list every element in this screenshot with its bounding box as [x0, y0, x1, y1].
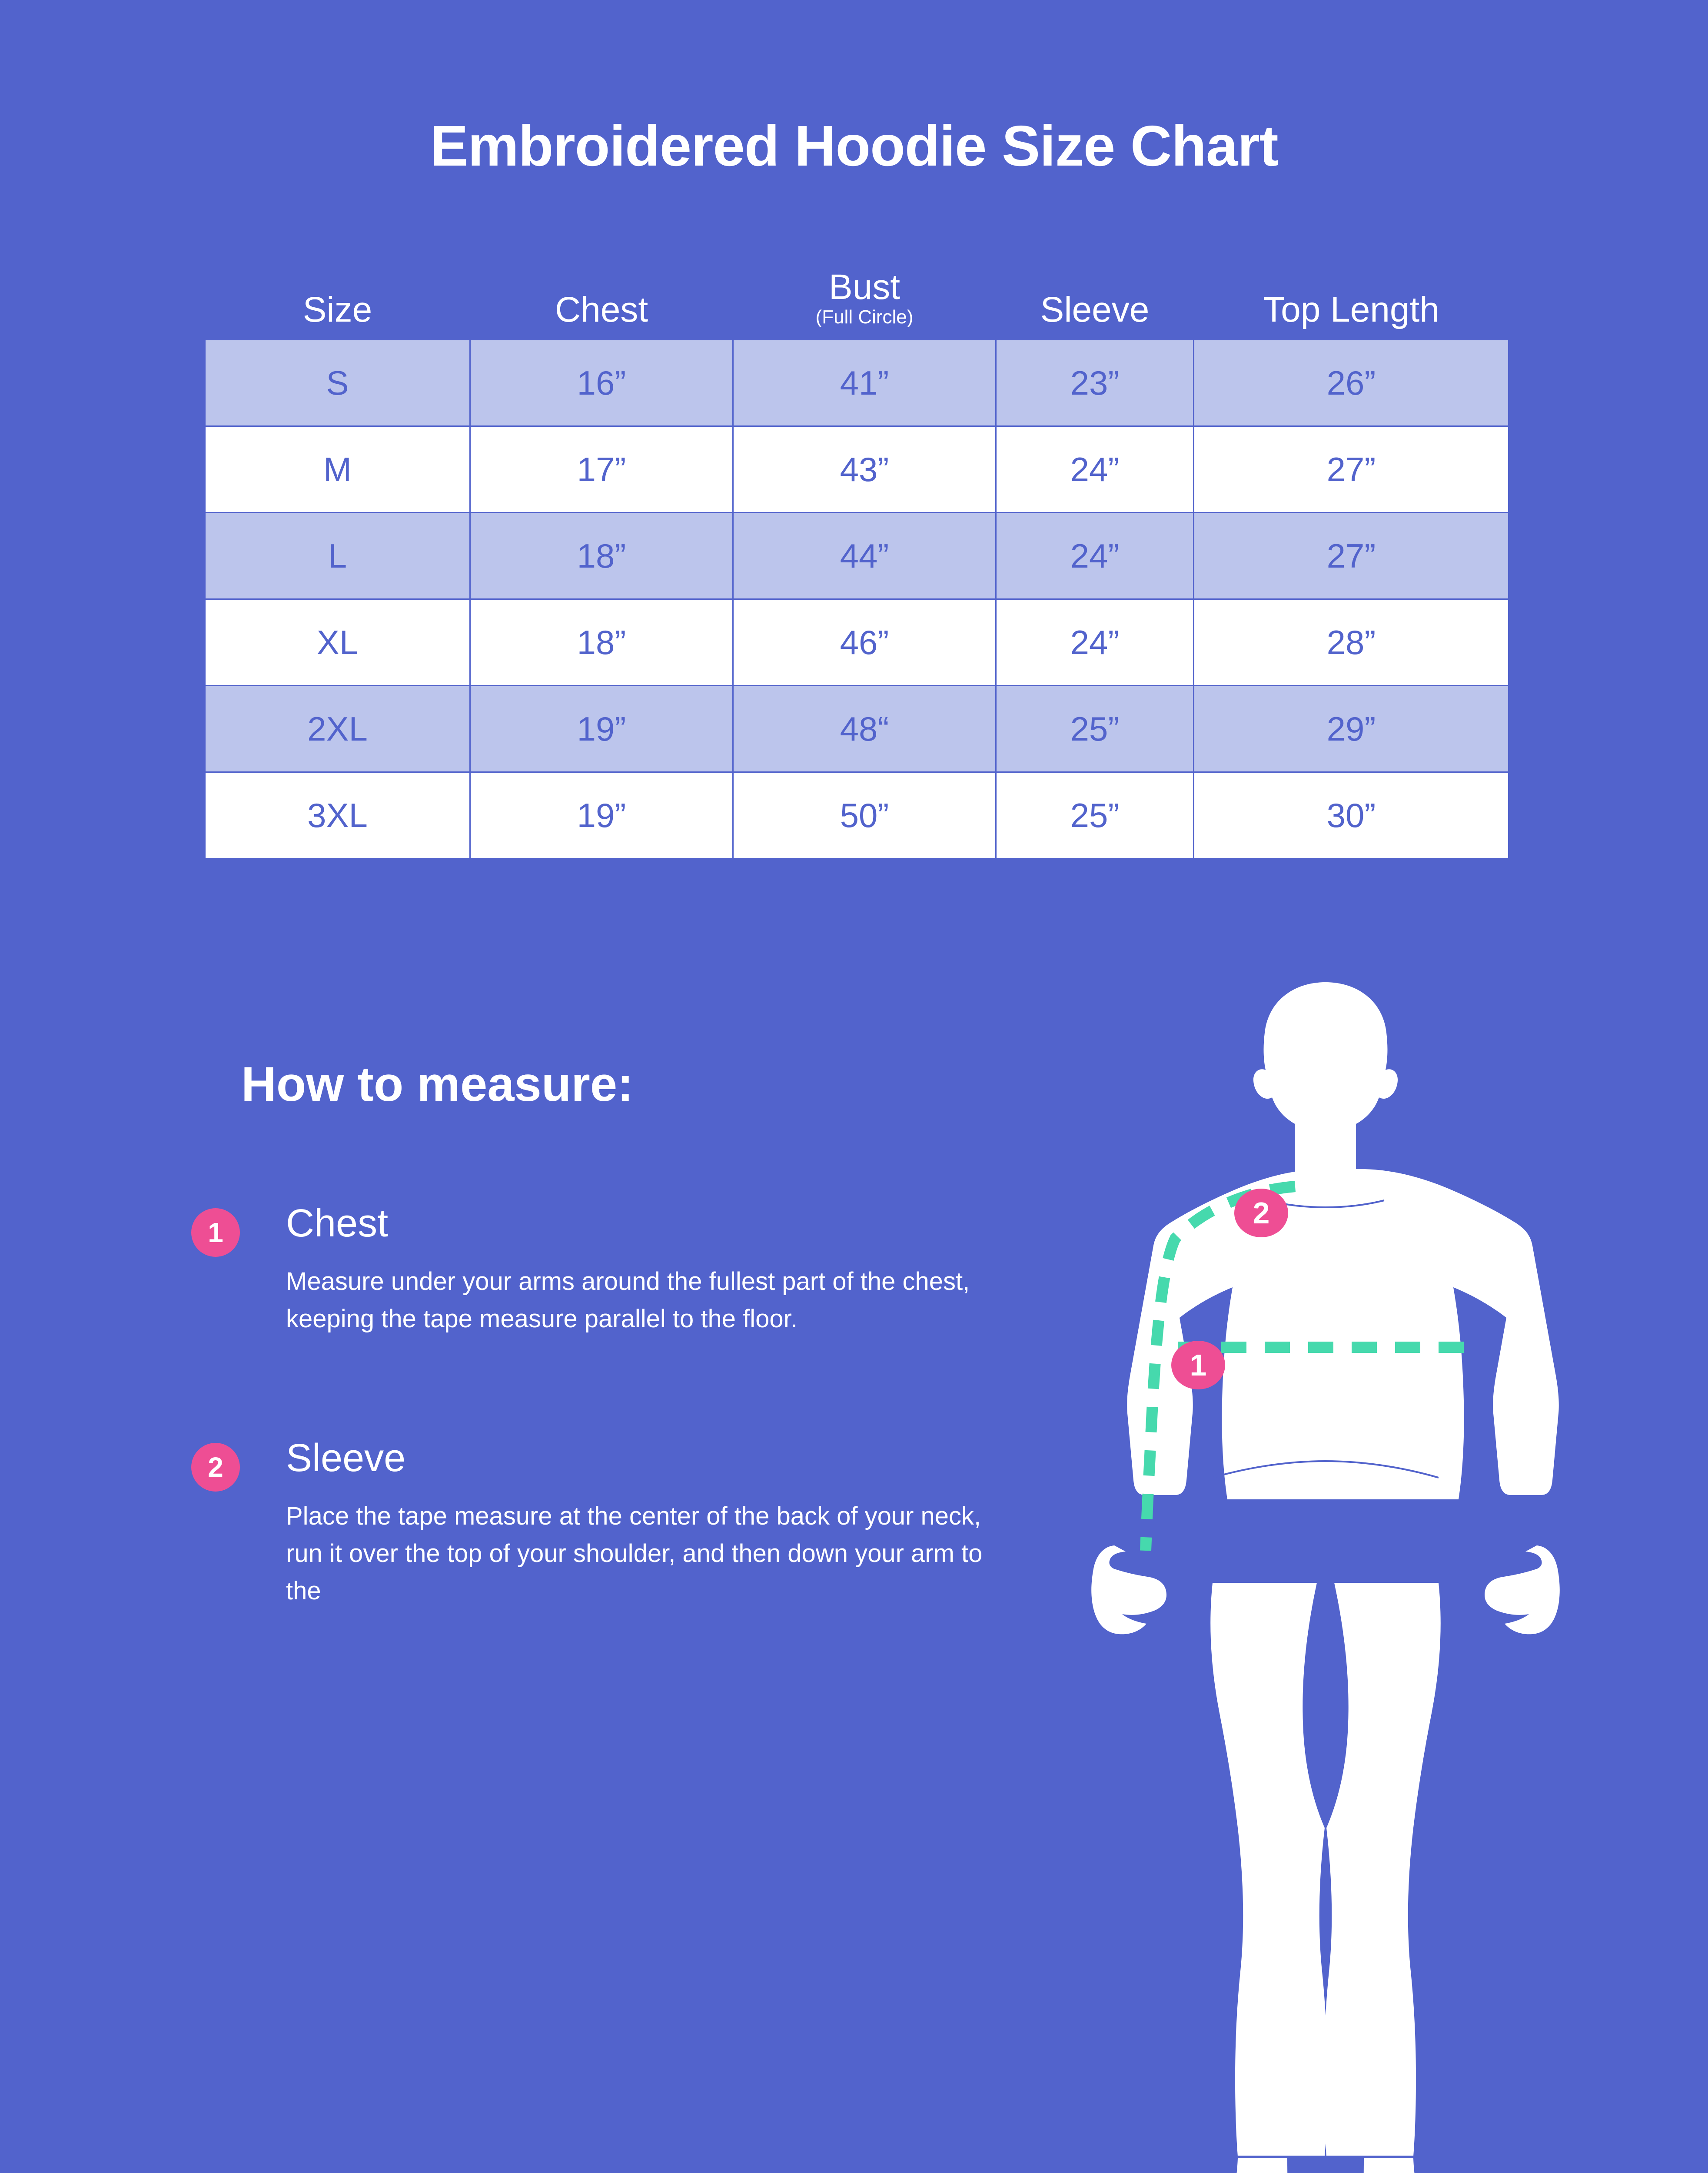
table-row: 2XL 19” 48“ 25” 29” [205, 686, 1509, 772]
cell-sleeve: 24” [996, 513, 1194, 599]
cell-sleeve: 24” [996, 426, 1194, 513]
cell-bust: 46” [733, 599, 996, 686]
size-chart-table: Size Chest Bust (Full Circle) Sleeve Top… [204, 269, 1509, 859]
table-row: 3XL 19” 50” 25” 30” [205, 772, 1509, 859]
column-header-bust-sublabel: (Full Circle) [733, 307, 996, 328]
figure-left-leg-shape [1210, 1583, 1327, 2156]
step-title-sleeve: Sleeve [286, 1439, 405, 1478]
column-header-size-label: Size [303, 290, 372, 329]
step-description-chest: Measure under your arms around the fulle… [286, 1263, 990, 1338]
column-header-sleeve-label: Sleeve [1040, 290, 1150, 329]
body-figure-illustration [1069, 965, 1582, 2173]
cell-sleeve: 25” [996, 772, 1194, 859]
figure-left-foot-shape [1195, 2158, 1295, 2173]
cell-size: 3XL [205, 772, 470, 859]
cell-size: L [205, 513, 470, 599]
column-header-bust-label: Bust [829, 267, 900, 307]
cell-chest: 18” [470, 599, 733, 686]
cell-bust: 43” [733, 426, 996, 513]
cell-bust: 41” [733, 340, 996, 426]
cell-top-length: 30” [1194, 772, 1509, 859]
body-silhouette-svg [1069, 965, 1582, 2173]
table-row: S 16” 41” 23” 26” [205, 340, 1509, 426]
column-header-sleeve: Sleeve [996, 269, 1194, 340]
step-number-badge-1: 1 [191, 1208, 240, 1257]
table-row: M 17” 43” 24” 27” [205, 426, 1509, 513]
cell-top-length: 29” [1194, 686, 1509, 772]
cell-chest: 18” [470, 513, 733, 599]
cell-sleeve: 24” [996, 599, 1194, 686]
cell-chest: 19” [470, 686, 733, 772]
cell-sleeve: 25” [996, 686, 1194, 772]
figure-left-hand-shape [1091, 1545, 1166, 1634]
figure-head-shape [1253, 982, 1398, 1131]
cell-size: S [205, 340, 470, 426]
column-header-bust: Bust (Full Circle) [733, 269, 996, 340]
cell-bust: 44” [733, 513, 996, 599]
cell-chest: 17” [470, 426, 733, 513]
figure-marker-badge-1: 1 [1171, 1341, 1225, 1389]
column-header-top-length: Top Length [1194, 269, 1509, 340]
cell-size: 2XL [205, 686, 470, 772]
table-header-row: Size Chest Bust (Full Circle) Sleeve Top… [205, 269, 1509, 340]
cell-chest: 16” [470, 340, 733, 426]
cell-top-length: 27” [1194, 513, 1509, 599]
column-header-chest-label: Chest [555, 290, 648, 329]
figure-right-hand-shape [1485, 1545, 1560, 1634]
table-body: S 16” 41” 23” 26” M 17” 43” 24” 27” L 18… [205, 340, 1509, 859]
column-header-chest: Chest [470, 269, 733, 340]
cell-top-length: 27” [1194, 426, 1509, 513]
figure-marker-badge-2: 2 [1234, 1189, 1288, 1237]
cell-size: XL [205, 599, 470, 686]
step-number-badge-2: 2 [191, 1443, 240, 1492]
page-title: Embroidered Hoodie Size Chart [0, 113, 1708, 179]
figure-right-leg-shape [1324, 1583, 1441, 2156]
step-description-sleeve: Place the tape measure at the center of … [286, 1498, 990, 1609]
cell-top-length: 26” [1194, 340, 1509, 426]
table-header: Size Chest Bust (Full Circle) Sleeve Top… [205, 269, 1509, 340]
step-title-chest: Chest [286, 1204, 388, 1243]
cell-bust: 48“ [733, 686, 996, 772]
cell-bust: 50” [733, 772, 996, 859]
column-header-size: Size [205, 269, 470, 340]
cell-size: M [205, 426, 470, 513]
cell-top-length: 28” [1194, 599, 1509, 686]
how-to-measure-heading: How to measure: [241, 1056, 633, 1112]
figure-right-foot-shape [1357, 2158, 1456, 2173]
size-chart-poster: Embroidered Hoodie Size Chart Size Chest… [0, 0, 1708, 2173]
cell-sleeve: 23” [996, 340, 1194, 426]
cell-chest: 19” [470, 772, 733, 859]
table-row: XL 18” 46” 24” 28” [205, 599, 1509, 686]
table-row: L 18” 44” 24” 27” [205, 513, 1509, 599]
column-header-top-length-label: Top Length [1263, 290, 1439, 329]
size-chart-table-wrapper: Size Chest Bust (Full Circle) Sleeve Top… [204, 269, 1508, 859]
